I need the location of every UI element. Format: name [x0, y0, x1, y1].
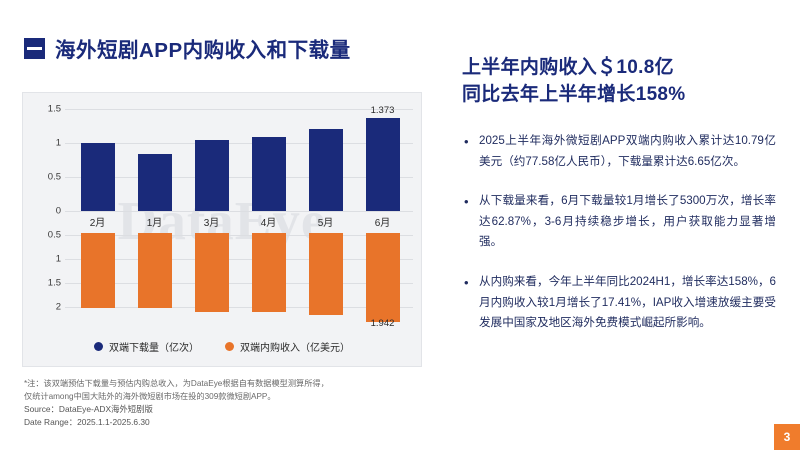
- bullet-item: 从内购来看，今年上半年同比2024H1，增长率达158%，6月内购收入较1月增长…: [462, 272, 776, 334]
- bar-revenue: [366, 233, 400, 322]
- x-axis-label: 3月: [182, 214, 242, 229]
- slide: 海外短剧APP内购收入和下载量 DataEye 1.510.500.511.52…: [0, 0, 800, 450]
- footnote-source: Source：DataEye-ADX海外短剧版: [24, 403, 424, 416]
- bar-revenue: [195, 233, 229, 312]
- bar-download: [252, 137, 286, 211]
- footnote-note-2: 仅统计among中国大陆外的海外微短剧市场在投的309款微短剧APP。: [24, 391, 424, 404]
- y-tick-label: 1.5: [31, 104, 61, 115]
- x-axis-label: 6月: [353, 214, 413, 229]
- title-bullet-icon: [24, 38, 45, 59]
- page-number: 3: [774, 424, 800, 450]
- x-axis-label: 5月: [296, 214, 356, 229]
- footnote: *注：该双端预估下载量与预估内购总收入，为DataEye根据自有数据模型测算所得…: [24, 378, 424, 429]
- footnote-note-1: *注：该双端预估下载量与预估内购总收入，为DataEye根据自有数据模型测算所得…: [24, 378, 424, 391]
- gridline: [65, 143, 413, 144]
- headline-line-2: 同比去年上半年增长158%: [462, 82, 776, 109]
- legend-item[interactable]: 双端内购收入（亿美元）: [225, 339, 350, 354]
- bar-revenue: [138, 233, 172, 308]
- legend-color-swatch: [225, 342, 234, 351]
- y-tick-label: 1.5: [31, 278, 61, 289]
- bullet-list: 2025上半年海外微短剧APP双端内购收入累计达10.79亿美元（约77.58亿…: [462, 131, 776, 334]
- bullet-item: 从下载量来看，6月下载量较1月增长了5300万次，增长率达62.87%，3-6月…: [462, 191, 776, 253]
- legend-color-swatch: [94, 342, 103, 351]
- gridline: [65, 211, 413, 212]
- chart-card: DataEye 1.510.500.511.522月1月3月4月5月1.3731…: [22, 92, 422, 367]
- bar-download: [81, 143, 115, 211]
- y-tick-label: 1: [31, 138, 61, 149]
- bar-value-label: 1.942: [353, 318, 413, 329]
- y-tick-label: 1: [31, 254, 61, 265]
- bullet-item: 2025上半年海外微短剧APP双端内购收入累计达10.79亿美元（约77.58亿…: [462, 131, 776, 172]
- gridline: [65, 283, 413, 284]
- chart-legend: 双端下载量（亿次）双端内购收入（亿美元）: [23, 339, 421, 354]
- footnote-date-range: Date Range：2025.1.1-2025.6.30: [24, 416, 424, 429]
- gridline: [65, 259, 413, 260]
- bar-value-label: 1.373: [353, 105, 413, 116]
- bar-revenue: [309, 233, 343, 315]
- y-tick-label: 0.5: [31, 230, 61, 241]
- bar-download: [195, 140, 229, 211]
- y-tick-label: 0: [31, 206, 61, 217]
- gridline: [65, 235, 413, 236]
- chart-plot-area: 1.510.500.511.522月1月3月4月5月1.3731.9426月: [23, 93, 423, 333]
- gridline: [65, 177, 413, 178]
- right-panel: 上半年内购收入＄10.8亿 同比去年上半年增长158% 2025上半年海外微短剧…: [462, 55, 776, 353]
- y-tick-label: 2: [31, 302, 61, 313]
- legend-label: 双端内购收入（亿美元）: [240, 339, 350, 354]
- headline: 上半年内购收入＄10.8亿 同比去年上半年增长158%: [462, 55, 776, 109]
- legend-label: 双端下载量（亿次）: [109, 339, 199, 354]
- legend-item[interactable]: 双端下载量（亿次）: [94, 339, 199, 354]
- x-axis-label: 4月: [239, 214, 299, 229]
- x-axis-label: 2月: [68, 214, 128, 229]
- bar-download: [309, 129, 343, 211]
- bar-download: [366, 118, 400, 211]
- gridline: [65, 307, 413, 308]
- page-title-text: 海外短剧APP内购收入和下载量: [55, 33, 351, 63]
- y-tick-label: 0.5: [31, 172, 61, 183]
- headline-line-1: 上半年内购收入＄10.8亿: [462, 55, 776, 82]
- page-title: 海外短剧APP内购收入和下载量: [24, 33, 351, 63]
- x-axis-label: 1月: [125, 214, 185, 229]
- bar-revenue: [81, 233, 115, 308]
- bar-download: [138, 154, 172, 211]
- bar-revenue: [252, 233, 286, 312]
